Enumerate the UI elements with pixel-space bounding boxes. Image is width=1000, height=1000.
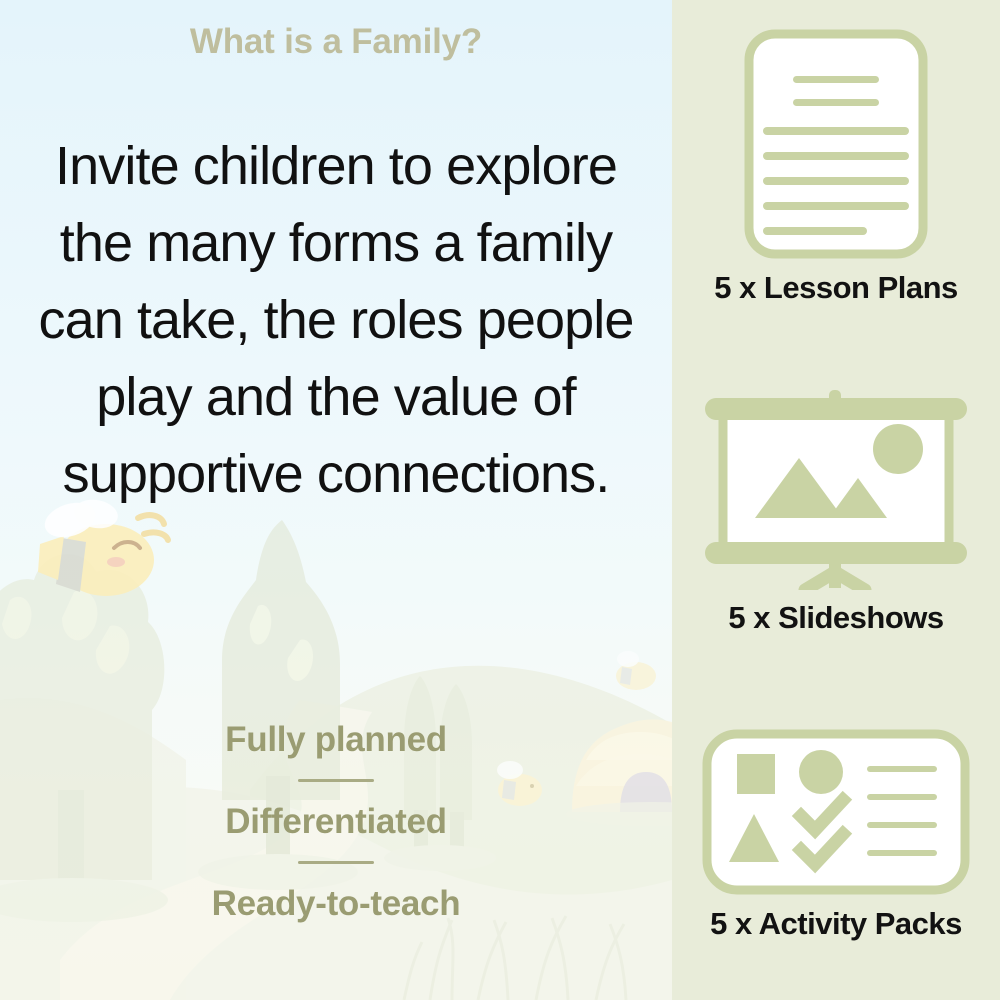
presentation-icon bbox=[701, 390, 971, 590]
feature-divider bbox=[298, 779, 374, 782]
deliverable-label-lesson-plans: 5 x Lesson Plans bbox=[672, 270, 1000, 306]
feature-divider bbox=[298, 861, 374, 864]
page-title: What is a Family? bbox=[0, 22, 672, 62]
deliverable-label-activity-packs: 5 x Activity Packs bbox=[672, 906, 1000, 942]
feature-item-differentiated: Differentiated bbox=[0, 800, 672, 844]
feature-item-fully-planned: Fully planned bbox=[0, 718, 672, 762]
deliverables-panel: 5 x Lesson Plans 5 x bbox=[672, 0, 1000, 1000]
activity-card-icon bbox=[701, 728, 971, 896]
deliverable-lesson-plans: 5 x Lesson Plans bbox=[672, 28, 1000, 306]
document-icon bbox=[741, 28, 931, 260]
deliverable-activity-packs: 5 x Activity Packs bbox=[672, 728, 1000, 942]
feature-list: Fully planned Differentiated Ready-to-te… bbox=[0, 718, 672, 926]
left-content-panel: What is a Family? Invite children to exp… bbox=[0, 0, 672, 1000]
promo-graphic: What is a Family? Invite children to exp… bbox=[0, 0, 1000, 1000]
body-description: Invite children to explore the many form… bbox=[22, 128, 650, 513]
deliverable-label-slideshows: 5 x Slideshows bbox=[672, 600, 1000, 636]
feature-item-ready-to-teach: Ready-to-teach bbox=[0, 882, 672, 926]
deliverable-slideshows: 5 x Slideshows bbox=[672, 390, 1000, 636]
